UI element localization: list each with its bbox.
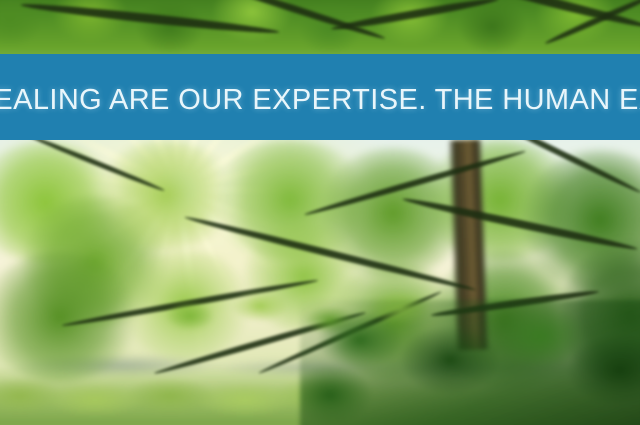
dense-right-foliage — [300, 300, 640, 425]
tagline-banner: H & HEALING ARE OUR EXPERTISE. THE HUMAN… — [0, 54, 640, 140]
hero-screenshot: H & HEALING ARE OUR EXPERTISE. THE HUMAN… — [0, 0, 640, 425]
tagline-text: H & HEALING ARE OUR EXPERTISE. THE HUMAN… — [0, 86, 640, 115]
